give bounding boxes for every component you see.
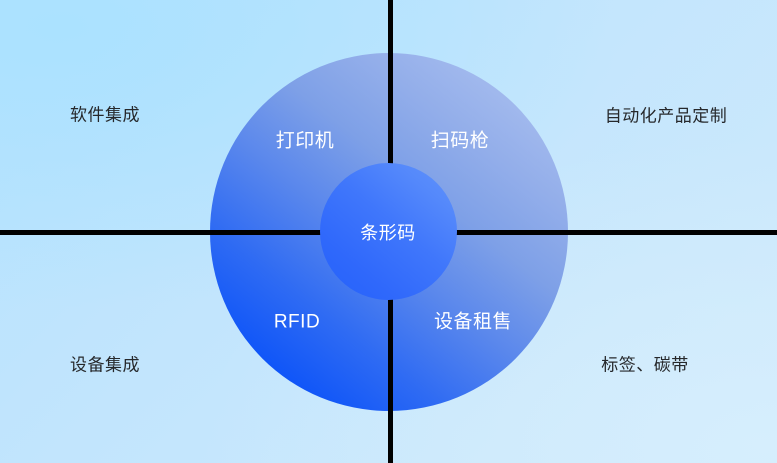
outer-label-labels-ribbons: 标签、碳带 [601, 357, 689, 374]
inner-label-scanner: 扫码枪 [431, 132, 490, 151]
outer-label-automation-customization: 自动化产品定制 [605, 108, 728, 125]
inner-label-printer: 打印机 [276, 132, 335, 151]
outer-label-software-integration: 软件集成 [70, 107, 140, 124]
diagram-canvas: 打印机 扫码枪 RFID 设备租售 条形码 软件集成 自动化产品定制 设备集成 … [0, 0, 777, 463]
outer-label-device-integration: 设备集成 [70, 357, 140, 374]
center-label-barcode: 条形码 [360, 224, 416, 242]
inner-label-rfid: RFID [274, 313, 320, 332]
inner-label-equipment-rental: 设备租售 [434, 313, 512, 332]
